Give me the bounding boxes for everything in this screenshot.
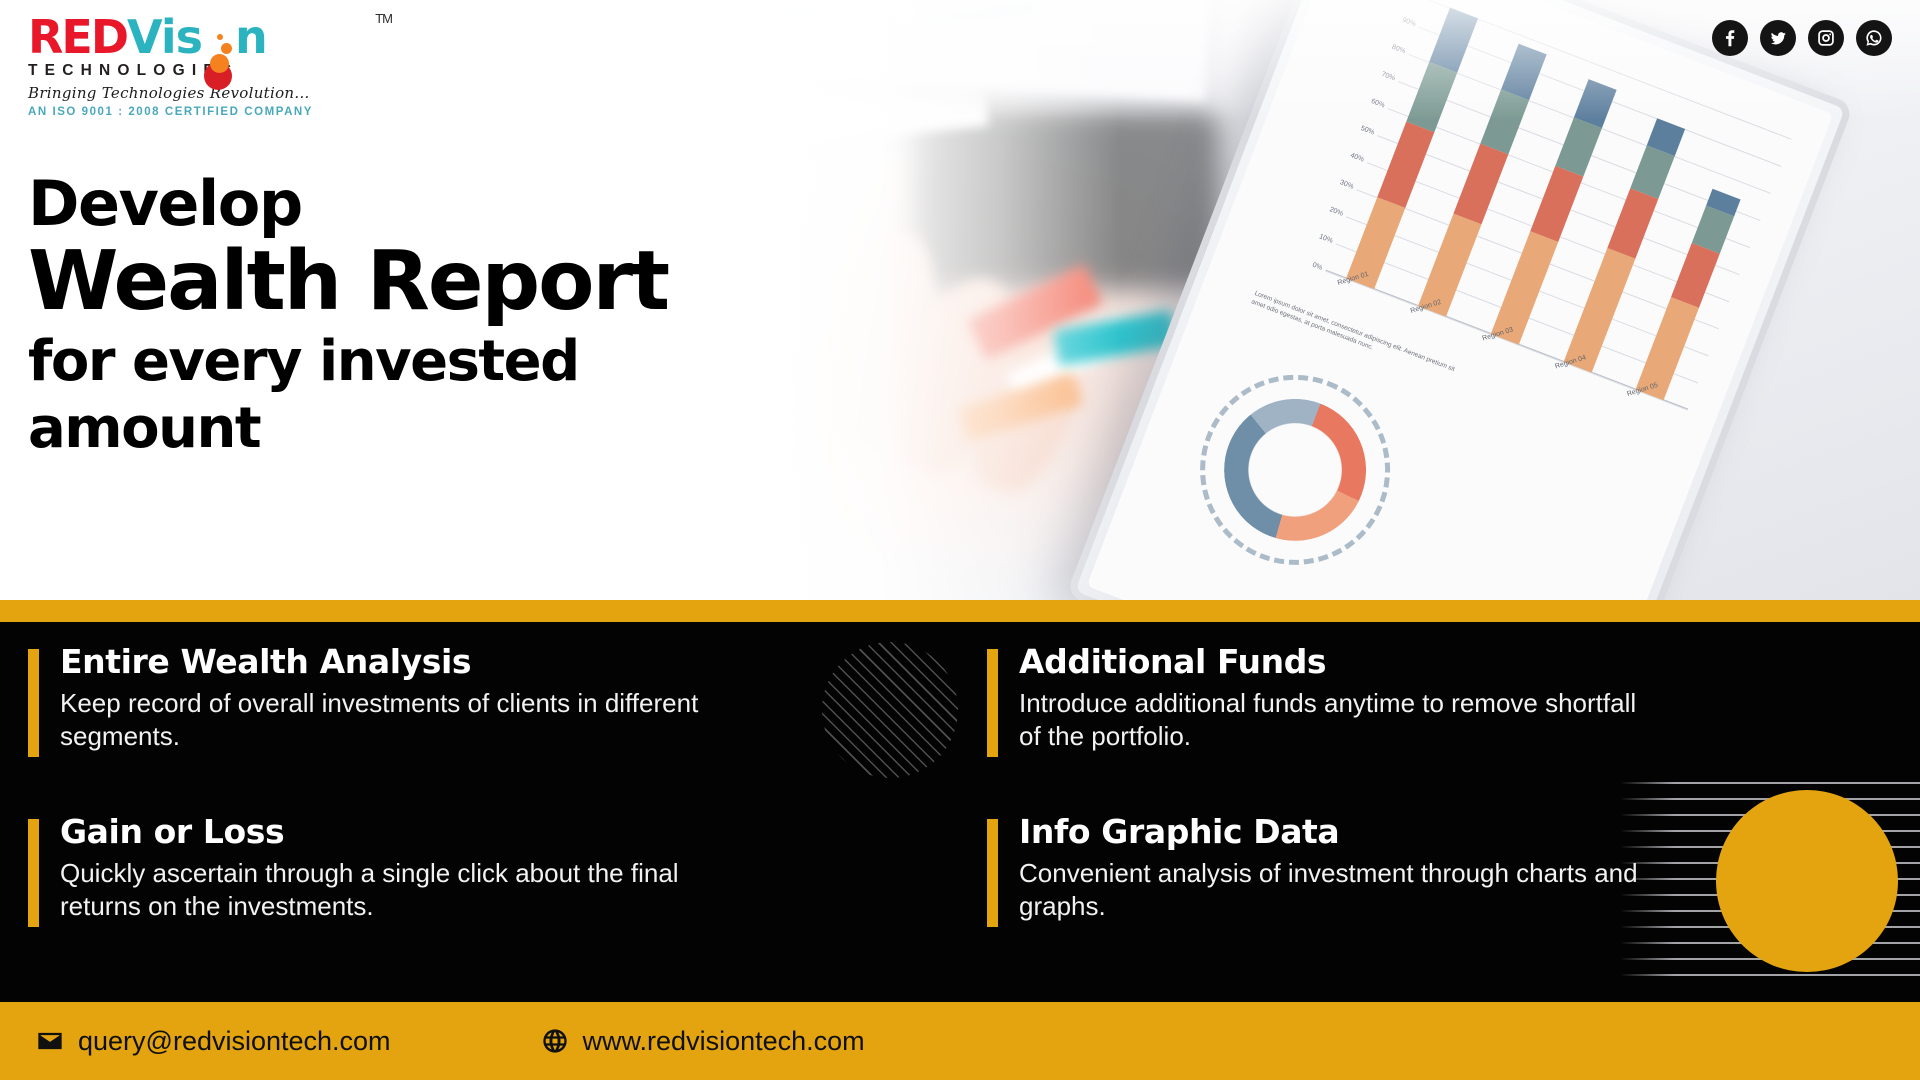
chart-y-tick-label: 0% (1282, 250, 1324, 272)
chart-bar-segment (1491, 231, 1558, 345)
email-address: query@redvisiontech.com (78, 1026, 391, 1057)
instagram-icon[interactable] (1808, 20, 1844, 56)
feature-description: Keep record of overall investments of cl… (60, 687, 700, 753)
feature-card-additional-funds: Additional Funds Introduce additional fu… (959, 644, 1890, 814)
feature-description: Introduce additional funds anytime to re… (1019, 687, 1659, 753)
feature-title: Gain or Loss (60, 814, 959, 850)
chart-y-tick-label: 60% (1344, 88, 1386, 110)
chart-y-tick-label: 30% (1313, 169, 1355, 191)
social-links (1712, 20, 1892, 56)
feature-grid: Entire Wealth Analysis Keep record of ov… (0, 622, 1920, 1002)
logo-wordmark: REDVisn TM (28, 14, 388, 60)
headline-line-2: Wealth Report (28, 239, 848, 324)
logo-red-text: RED (28, 10, 127, 64)
headline-line-3: for every invested (28, 331, 848, 393)
hero-photograph: 0%10%20%30%40%50%60%70%80%90%100%Region … (660, 0, 1920, 600)
chart-y-tick-label: 70% (1354, 61, 1396, 83)
chart-y-tick-label: 10% (1292, 223, 1334, 245)
brand-logo[interactable]: REDVisn TM TECHNOLOGIES Bringing Technol… (28, 14, 388, 118)
email-contact[interactable]: query@redvisiontech.com (36, 1026, 391, 1057)
trademark-symbol: TM (375, 12, 392, 25)
feature-description: Quickly ascertain through a single click… (60, 857, 700, 923)
marketing-banner: 0%10%20%30%40%50%60%70%80%90%100%Region … (0, 0, 1920, 1080)
chart-bar-segment (1406, 62, 1457, 132)
page-title: Develop Wealth Report for every invested… (28, 172, 848, 460)
feature-card-entire-wealth-analysis: Entire Wealth Analysis Keep record of ov… (28, 644, 959, 814)
blurred-monitor (910, 110, 1220, 290)
website-url: www.redvisiontech.com (583, 1026, 865, 1057)
chart-bar-segment (1481, 90, 1530, 155)
chart-bar-segment (1607, 188, 1658, 258)
feature-accent-bar (28, 649, 39, 757)
chart-y-tick-label: 100% (1385, 0, 1427, 1)
feature-card-info-graphic-data: Info Graphic Data Convenient analysis of… (959, 814, 1890, 984)
globe-icon (541, 1027, 569, 1055)
feature-description: Convenient analysis of investment throug… (1019, 857, 1659, 923)
feature-accent-bar (987, 819, 998, 927)
feature-title: Additional Funds (1019, 644, 1890, 680)
headline-line-4: amount (28, 398, 848, 460)
stacked-bar-chart: 0%10%20%30%40%50%60%70%80%90%100%Region … (1269, 0, 1798, 443)
feature-title: Entire Wealth Analysis (60, 644, 959, 680)
chart-y-tick-label: 20% (1302, 196, 1344, 218)
chart-y-tick-label: 90% (1375, 7, 1417, 29)
gold-divider (0, 600, 1920, 622)
headline-line-1: Develop (28, 172, 848, 235)
donut-chart (1172, 347, 1417, 592)
feature-accent-bar (987, 649, 998, 757)
hero-section: 0%10%20%30%40%50%60%70%80%90%100%Region … (0, 0, 1920, 600)
logo-vision-text: Vis (127, 10, 202, 64)
feature-card-gain-or-loss: Gain or Loss Quickly ascertain through a… (28, 814, 959, 984)
twitter-icon[interactable] (1760, 20, 1796, 56)
chart-y-tick-label: 80% (1365, 34, 1407, 56)
chart-bar-segment (1530, 166, 1583, 242)
logo-n-text: n (235, 10, 267, 64)
whatsapp-icon[interactable] (1856, 20, 1892, 56)
envelope-icon (36, 1027, 64, 1055)
website-contact[interactable]: www.redvisiontech.com (541, 1026, 865, 1057)
features-section: Entire Wealth Analysis Keep record of ov… (0, 622, 1920, 1002)
feature-accent-bar (28, 819, 39, 927)
chart-y-tick-label: 40% (1323, 142, 1365, 164)
logo-iso-certification: AN ISO 9001 : 2008 CERTIFIED COMPANY (28, 106, 388, 118)
feature-title: Info Graphic Data (1019, 814, 1890, 850)
chart-bar-segment (1671, 243, 1720, 308)
chart-bar-segment (1377, 121, 1434, 208)
chart-y-tick-label: 50% (1333, 115, 1375, 137)
chart-bar-column (1636, 189, 1741, 400)
chart-bar-segment (1429, 8, 1478, 73)
footer-contact-bar: query@redvisiontech.com www.redvisiontec… (0, 1002, 1920, 1080)
facebook-icon[interactable] (1712, 20, 1748, 56)
